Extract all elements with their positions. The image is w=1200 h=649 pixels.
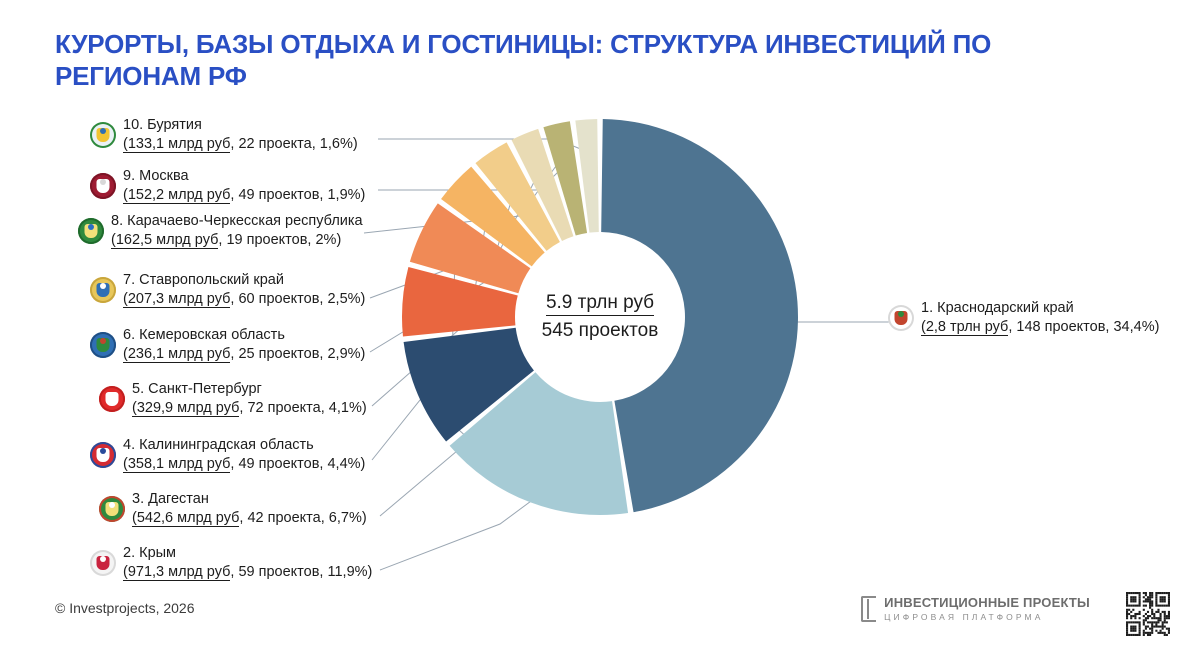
legend-item-4[interactable]: 4. Калининградская область(358,1 млрд ру… xyxy=(90,437,365,473)
legend-region-name-2: 2. Крым xyxy=(123,545,372,563)
qr-code-icon xyxy=(1126,592,1170,636)
legend-region-name-1: 1. Краснодарский край xyxy=(921,300,1159,318)
legend-region-stats-2: (971,3 млрд руб, 59 проектов, 11,9%) xyxy=(123,563,372,581)
page-title: КУРОРТЫ, БАЗЫ ОТДЫХА И ГОСТИНИЦЫ: СТРУКТ… xyxy=(55,28,1055,92)
brand-logo: ИНВЕСТИЦИОННЫЕ ПРОЕКТЫ ЦИФРОВАЯ ПЛАТФОРМ… xyxy=(861,596,1090,623)
legend-item-9[interactable]: 9. Москва(152,2 млрд руб, 49 проектов, 1… xyxy=(90,168,365,204)
legend-rest-9: , 49 проектов, 1,9%) xyxy=(230,187,365,203)
donut-slice-group xyxy=(402,119,798,515)
brand-subtitle: ЦИФРОВАЯ ПЛАТФОРМА xyxy=(884,613,1090,623)
donut-chart: 5.9 трлн руб 545 проектов xyxy=(395,112,805,522)
legend-rest-8: , 19 проектов, 2%) xyxy=(218,232,341,248)
region-emblem-icon-8 xyxy=(78,218,104,244)
legend-region-name-4: 4. Калининградская область xyxy=(123,437,365,455)
emblem-accent xyxy=(100,556,106,562)
legend-amount-7: (207,3 млрд руб xyxy=(123,291,230,308)
legend-amount-2: (971,3 млрд руб xyxy=(123,564,230,581)
legend-item-3[interactable]: 3. Дагестан(542,6 млрд руб, 42 проекта, … xyxy=(99,491,367,527)
legend-region-stats-6: (236,1 млрд руб, 25 проектов, 2,9%) xyxy=(123,345,365,363)
copyright-text: © Investprojects, 2026 xyxy=(55,600,195,616)
legend-rest-2: , 59 проектов, 11,9%) xyxy=(230,564,372,580)
legend-region-name-9: 9. Москва xyxy=(123,168,365,186)
legend-region-name-6: 6. Кемеровская область xyxy=(123,327,365,345)
emblem-accent xyxy=(898,311,904,317)
legend-amount-6: (236,1 млрд руб xyxy=(123,346,230,363)
legend-amount-5: (329,9 млрд руб xyxy=(132,400,239,417)
legend-amount-1: (2,8 трлн руб xyxy=(921,319,1008,336)
legend-item-5[interactable]: 5. Санкт-Петербург(329,9 млрд руб, 72 пр… xyxy=(99,381,367,417)
emblem-accent xyxy=(100,448,106,454)
region-emblem-icon-10 xyxy=(90,122,116,148)
legend-amount-4: (358,1 млрд руб xyxy=(123,456,230,473)
legend-item-8[interactable]: 8. Карачаево-Черкесская республика(162,5… xyxy=(78,213,363,249)
region-emblem-icon-7 xyxy=(90,277,116,303)
legend-rest-3: , 42 проекта, 6,7%) xyxy=(239,510,366,526)
emblem-accent xyxy=(100,283,106,289)
legend-amount-3: (542,6 млрд руб xyxy=(132,510,239,527)
legend-rest-4: , 49 проектов, 4,4%) xyxy=(230,456,365,472)
region-emblem-icon-2 xyxy=(90,550,116,576)
region-emblem-icon-4 xyxy=(90,442,116,468)
emblem-accent xyxy=(88,224,94,230)
legend-item-1[interactable]: 1. Краснодарский край(2,8 трлн руб, 148 … xyxy=(888,300,1159,336)
legend-rest-6: , 25 проектов, 2,9%) xyxy=(230,346,365,362)
legend-region-stats-8: (162,5 млрд руб, 19 проектов, 2%) xyxy=(111,231,363,249)
legend-region-stats-1: (2,8 трлн руб, 148 проектов, 34,4%) xyxy=(921,318,1159,336)
legend-region-stats-7: (207,3 млрд руб, 60 проектов, 2,5%) xyxy=(123,290,365,308)
emblem-accent xyxy=(109,392,115,398)
legend-region-name-7: 7. Ставропольский край xyxy=(123,272,365,290)
emblem-accent xyxy=(100,128,106,134)
legend-region-stats-10: (133,1 млрд руб, 22 проекта, 1,6%) xyxy=(123,135,358,153)
emblem-accent xyxy=(100,338,106,344)
legend-region-name-3: 3. Дагестан xyxy=(132,491,367,509)
legend-item-2[interactable]: 2. Крым(971,3 млрд руб, 59 проектов, 11,… xyxy=(90,545,372,581)
donut-svg xyxy=(395,112,805,522)
region-emblem-icon-9 xyxy=(90,173,116,199)
legend-region-name-5: 5. Санкт-Петербург xyxy=(132,381,367,399)
legend-amount-9: (152,2 млрд руб xyxy=(123,187,230,204)
legend-region-name-8: 8. Карачаево-Черкесская республика xyxy=(111,213,363,231)
legend-amount-8: (162,5 млрд руб xyxy=(111,232,218,249)
legend-rest-7: , 60 проектов, 2,5%) xyxy=(230,291,365,307)
region-emblem-icon-3 xyxy=(99,496,125,522)
legend-region-stats-4: (358,1 млрд руб, 49 проектов, 4,4%) xyxy=(123,455,365,473)
legend-item-6[interactable]: 6. Кемеровская область(236,1 млрд руб, 2… xyxy=(90,327,365,363)
emblem-accent xyxy=(109,502,115,508)
region-emblem-icon-5 xyxy=(99,386,125,412)
legend-rest-5: , 72 проекта, 4,1%) xyxy=(239,400,366,416)
legend-region-name-10: 10. Бурятия xyxy=(123,117,358,135)
legend-rest-10: , 22 проекта, 1,6%) xyxy=(230,136,357,152)
legend-amount-10: (133,1 млрд руб xyxy=(123,136,230,153)
donut-slice-1[interactable] xyxy=(601,119,798,512)
legend-item-10[interactable]: 10. Бурятия(133,1 млрд руб, 22 проекта, … xyxy=(90,117,358,153)
legend-region-stats-9: (152,2 млрд руб, 49 проектов, 1,9%) xyxy=(123,186,365,204)
brand-name: ИНВЕСТИЦИОННЫЕ ПРОЕКТЫ xyxy=(884,596,1090,611)
region-emblem-icon-1 xyxy=(888,305,914,331)
emblem-accent xyxy=(100,179,106,185)
legend-rest-1: , 148 проектов, 34,4%) xyxy=(1008,319,1159,335)
legend-region-stats-5: (329,9 млрд руб, 72 проекта, 4,1%) xyxy=(132,399,367,417)
legend-region-stats-3: (542,6 млрд руб, 42 проекта, 6,7%) xyxy=(132,509,367,527)
book-icon xyxy=(861,596,876,622)
legend-item-7[interactable]: 7. Ставропольский край(207,3 млрд руб, 6… xyxy=(90,272,365,308)
region-emblem-icon-6 xyxy=(90,332,116,358)
